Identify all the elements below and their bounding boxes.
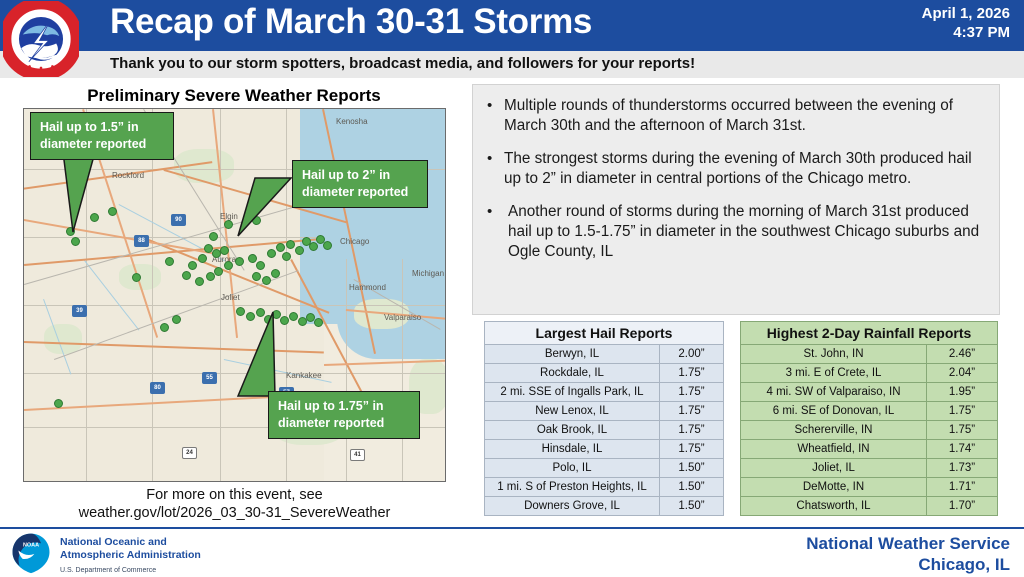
report-value: 1.50” [660,459,724,478]
report-location: 1 mi. S of Preston Heights, IL [485,478,660,497]
noaa-department: U.S. Department of Commerce [60,564,201,577]
table-row: Hinsdale, IL1.75” [485,440,724,459]
table-row: Schererville, IN1.75” [741,421,998,440]
report-value: 1.75” [660,440,724,459]
report-location: 4 mi. SW of Valparaiso, IN [741,383,927,402]
report-value: 1.70” [927,497,998,516]
summary-bullet: •Multiple rounds of thunderstorms occurr… [487,96,983,136]
footer-office: National Weather Service Chicago, IL [806,533,1010,575]
noaa-agency-name: National Oceanic and Atmospheric Adminis… [60,536,201,577]
summary-bullet: •The strongest storms during the evening… [487,149,983,189]
report-location: New Lenox, IL [485,402,660,421]
table-row: Polo, IL1.50” [485,459,724,478]
callout-line-1: Hail up to 1.75” in [278,398,410,415]
report-location: Polo, IL [485,459,660,478]
table-row: 2 mi. SSE of Ingalls Park, IL1.75” [485,383,724,402]
report-value: 1.75” [660,364,724,383]
table-row: 1 mi. S of Preston Heights, IL1.50” [485,478,724,497]
hail-table-title: Largest Hail Reports [485,322,724,345]
report-value: 2.46” [927,345,998,364]
callout-line-1: Hail up to 1.5” in [40,119,164,136]
noaa-wordmark: NOAA [23,542,39,548]
table-row: 4 mi. SW of Valparaiso, IN1.95” [741,383,998,402]
nws-seal-icon [3,1,79,77]
summary-bullet: •Another round of storms during the morn… [487,202,983,262]
noaa-logo-icon: NOAA [10,532,52,574]
map-caption: For more on this event, see weather.gov/… [23,486,446,522]
rainfall-table-title: Highest 2-Day Rainfall Reports [741,322,998,345]
report-location: 6 mi. SE of Donovan, IL [741,402,927,421]
summary-bullet-text: Another round of storms during the morni… [508,202,983,262]
header-subtitle: Thank you to our storm spotters, broadca… [110,55,695,72]
callout-line-2: diameter reported [40,136,164,153]
bullet-marker: • [487,96,504,136]
table-row: St. John, IN2.46” [741,345,998,364]
callout-hail-1-75: Hail up to 1.75” in diameter reported [268,391,420,439]
report-location: Joliet, IL [741,459,927,478]
callout-line-2: diameter reported [302,184,418,201]
report-location: Oak Brook, IL [485,421,660,440]
report-value: 1.50” [660,478,724,497]
report-value: 1.74” [927,440,998,459]
report-location: St. John, IN [741,345,927,364]
largest-hail-reports-table: Largest Hail Reports Berwyn, IL2.00”Rock… [484,321,724,516]
table-row: Wheatfield, IN1.74” [741,440,998,459]
table-row: New Lenox, IL1.75” [485,402,724,421]
report-value: 1.71” [927,478,998,497]
callout-hail-1-5: Hail up to 1.5” in diameter reported [30,112,174,160]
report-value: 1.75” [660,402,724,421]
highest-rainfall-reports-table: Highest 2-Day Rainfall Reports St. John,… [740,321,998,516]
report-value: 1.75” [660,421,724,440]
report-location: Wheatfield, IN [741,440,927,459]
report-value: 2.00” [660,345,724,364]
bullet-marker: • [487,149,504,189]
summary-bullet-list: •Multiple rounds of thunderstorms occurr… [487,96,983,262]
summary-panel: •Multiple rounds of thunderstorms occurr… [472,84,1000,315]
report-location: Hinsdale, IL [485,440,660,459]
header-date: April 1, 2026 [922,4,1010,23]
report-value: 2.04” [927,364,998,383]
page-title: Recap of March 30-31 Storms [110,2,592,42]
callout-line-1: Hail up to 2” in [302,167,418,184]
report-location: Downers Grove, IL [485,497,660,516]
report-value: 1.75” [927,421,998,440]
header-time: 4:37 PM [922,23,1010,42]
table-row: Oak Brook, IL1.75” [485,421,724,440]
report-location: 3 mi. E of Crete, IL [741,364,927,383]
summary-bullet-text: The strongest storms during the evening … [504,149,983,189]
table-row: 3 mi. E of Crete, IL2.04” [741,364,998,383]
map-title: Preliminary Severe Weather Reports [24,86,444,106]
report-location: DeMotte, IN [741,478,927,497]
report-value: 1.95” [927,383,998,402]
table-row: Chatsworth, IL1.70” [741,497,998,516]
report-location: Berwyn, IL [485,345,660,364]
callout-hail-2: Hail up to 2” in diameter reported [292,160,428,208]
map-caption-line-1: For more on this event, see [23,486,446,504]
table-row: Downers Grove, IL1.50” [485,497,724,516]
footer-office-location: Chicago, IL [806,554,1010,575]
report-location: Chatsworth, IL [741,497,927,516]
footer-office-name: National Weather Service [806,533,1010,554]
table-row: Rockdale, IL1.75” [485,364,724,383]
bullet-marker: • [487,202,508,262]
noaa-line-1: National Oceanic and [60,536,201,549]
header-datetime: April 1, 2026 4:37 PM [922,4,1010,42]
report-location: 2 mi. SSE of Ingalls Park, IL [485,383,660,402]
table-row: Berwyn, IL2.00” [485,345,724,364]
noaa-line-2: Atmospheric Administration [60,549,201,562]
report-value: 1.73” [927,459,998,478]
report-location: Schererville, IN [741,421,927,440]
table-row: DeMotte, IN1.71” [741,478,998,497]
report-value: 1.75” [927,402,998,421]
report-value: 1.75” [660,383,724,402]
report-location: Rockdale, IL [485,364,660,383]
callout-line-2: diameter reported [278,415,410,432]
table-row: Joliet, IL1.73” [741,459,998,478]
map-caption-url: weather.gov/lot/2026_03_30-31_SevereWeat… [23,504,446,522]
report-value: 1.50” [660,497,724,516]
table-row: 6 mi. SE of Donovan, IL1.75” [741,402,998,421]
summary-bullet-text: Multiple rounds of thunderstorms occurre… [504,96,983,136]
